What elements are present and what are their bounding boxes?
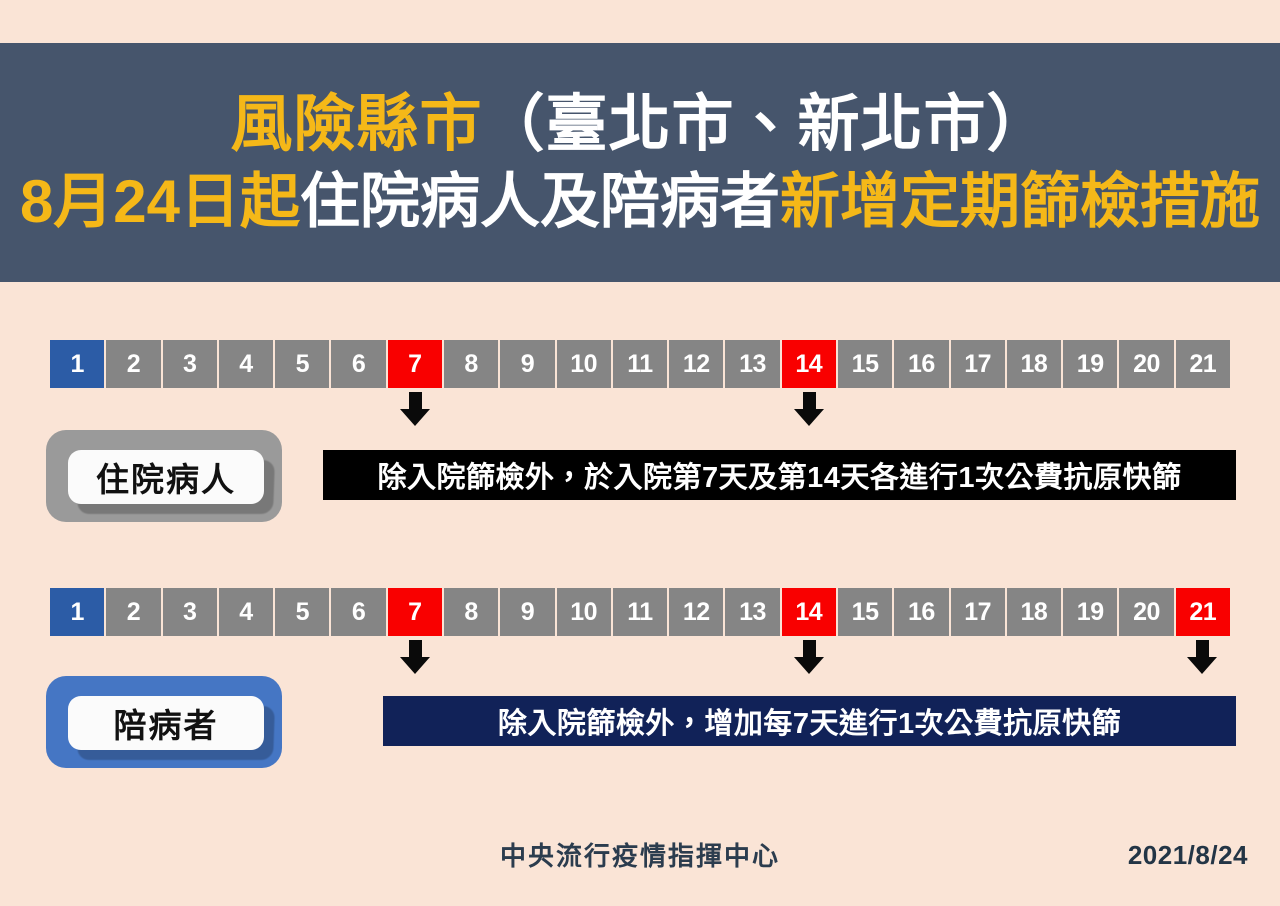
day-cell-11: 11 xyxy=(613,588,667,636)
chip-label-inpatient: 住院病人 xyxy=(68,450,264,504)
day-cell-8: 8 xyxy=(444,588,498,636)
day-cell-19: 19 xyxy=(1063,340,1117,388)
day-cell-1: 1 xyxy=(50,588,104,636)
day-cell-6: 6 xyxy=(331,588,385,636)
day-cell-9: 9 xyxy=(500,588,554,636)
timeline-caregiver: 123456789101112131415161718192021 xyxy=(50,588,1230,636)
day-cell-6: 6 xyxy=(331,340,385,388)
page-title-line-2: 8月24日起住院病人及陪病者新增定期篩檢措施 xyxy=(20,170,1260,233)
arrow-row-inpatient xyxy=(50,390,1230,426)
day-cell-5: 5 xyxy=(275,340,329,388)
arrow-head xyxy=(794,657,824,674)
title-effective-date: 8月24日起 xyxy=(20,168,300,235)
day-cell-19: 19 xyxy=(1063,588,1117,636)
title-city-list: （臺北市、新北市） xyxy=(483,90,1050,159)
section-inpatient: 123456789101112131415161718192021 住院病人 除… xyxy=(0,340,1280,540)
day-cell-5: 5 xyxy=(275,588,329,636)
footer-organization: 中央流行疫情指揮中心 xyxy=(0,836,1280,873)
arrow-head xyxy=(1187,657,1217,674)
header-band: 風險縣市（臺北市、新北市） 8月24日起住院病人及陪病者新增定期篩檢措施 xyxy=(0,43,1280,282)
chip-inpatient: 住院病人 xyxy=(46,430,282,522)
arrow-shaft xyxy=(409,640,422,658)
arrow-head xyxy=(794,409,824,426)
arrow-shaft xyxy=(409,392,422,410)
day-cell-13: 13 xyxy=(725,340,779,388)
day-cell-1: 1 xyxy=(50,340,104,388)
chip-label-caregiver: 陪病者 xyxy=(68,696,264,750)
arrow-shaft xyxy=(803,640,816,658)
day-cell-3: 3 xyxy=(163,588,217,636)
arrow-row-caregiver xyxy=(50,638,1230,674)
day-cell-15: 15 xyxy=(838,588,892,636)
day-cell-9: 9 xyxy=(500,340,554,388)
day-cell-2: 2 xyxy=(106,588,160,636)
day-cell-12: 12 xyxy=(669,340,723,388)
day-cell-21: 21 xyxy=(1176,340,1230,388)
timeline-inpatient: 123456789101112131415161718192021 xyxy=(50,340,1230,388)
day-cell-10: 10 xyxy=(557,340,611,388)
day-cell-3: 3 xyxy=(163,340,217,388)
chip-caregiver: 陪病者 xyxy=(46,676,282,768)
day-cell-7: 7 xyxy=(388,588,442,636)
arrow-head xyxy=(400,409,430,426)
day-cell-21: 21 xyxy=(1176,588,1230,636)
day-cell-8: 8 xyxy=(444,340,498,388)
day-cell-2: 2 xyxy=(106,340,160,388)
down-arrow-icon-day-14 xyxy=(794,640,824,674)
day-cell-10: 10 xyxy=(557,588,611,636)
arrow-shaft xyxy=(803,392,816,410)
day-cell-4: 4 xyxy=(219,588,273,636)
down-arrow-icon-day-7 xyxy=(400,392,430,426)
title-policy: 新增定期篩檢措施 xyxy=(780,168,1260,235)
day-cell-17: 17 xyxy=(951,588,1005,636)
day-cell-14: 14 xyxy=(782,588,836,636)
day-cell-20: 20 xyxy=(1119,588,1173,636)
arrow-shaft xyxy=(1196,640,1209,658)
infographic-poster: 風險縣市（臺北市、新北市） 8月24日起住院病人及陪病者新增定期篩檢措施 123… xyxy=(0,0,1280,906)
day-cell-18: 18 xyxy=(1007,588,1061,636)
down-arrow-icon-day-21 xyxy=(1187,640,1217,674)
day-cell-17: 17 xyxy=(951,340,1005,388)
arrow-head xyxy=(400,657,430,674)
title-target-groups: 住院病人及陪病者 xyxy=(300,168,780,235)
day-cell-11: 11 xyxy=(613,340,667,388)
day-cell-16: 16 xyxy=(894,340,948,388)
day-cell-4: 4 xyxy=(219,340,273,388)
day-cell-14: 14 xyxy=(782,340,836,388)
day-cell-20: 20 xyxy=(1119,340,1173,388)
banner-caregiver: 除入院篩檢外，增加每7天進行1次公費抗原快篩 xyxy=(383,696,1236,746)
day-cell-7: 7 xyxy=(388,340,442,388)
day-cell-16: 16 xyxy=(894,588,948,636)
page-title-line-1: 風險縣市（臺北市、新北市） xyxy=(230,92,1049,157)
day-cell-15: 15 xyxy=(838,340,892,388)
footer-date: 2021/8/24 xyxy=(1128,840,1248,871)
down-arrow-icon-day-14 xyxy=(794,392,824,426)
day-cell-12: 12 xyxy=(669,588,723,636)
title-risk-cities: 風險縣市 xyxy=(230,90,482,159)
section-caregiver: 123456789101112131415161718192021 陪病者 除入… xyxy=(0,588,1280,793)
down-arrow-icon-day-7 xyxy=(400,640,430,674)
day-cell-18: 18 xyxy=(1007,340,1061,388)
day-cell-13: 13 xyxy=(725,588,779,636)
banner-inpatient: 除入院篩檢外，於入院第7天及第14天各進行1次公費抗原快篩 xyxy=(323,450,1236,500)
